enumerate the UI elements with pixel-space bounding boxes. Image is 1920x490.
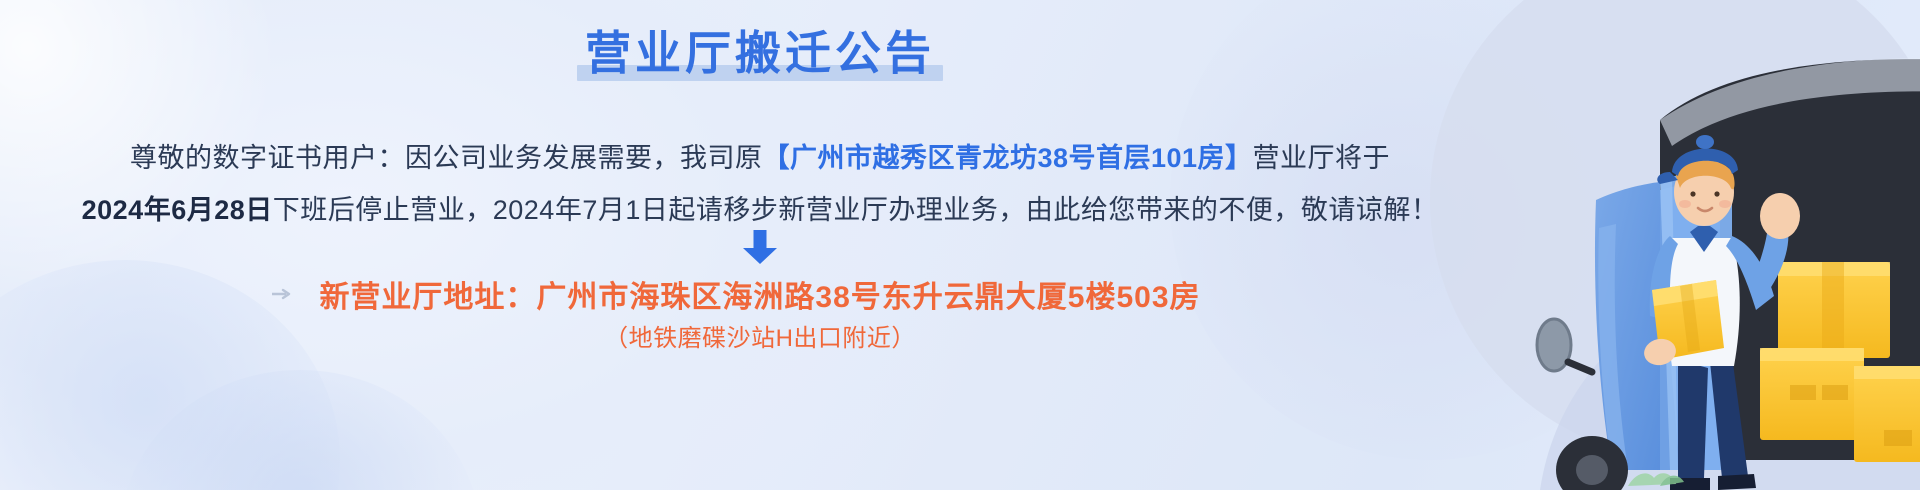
title-text: 营业厅搬迁公告	[585, 27, 935, 79]
new-address-line: 新营业厅地址：广州市海珠区海洲路38号东升云鼎大厦5楼503房	[0, 272, 1520, 316]
old-address-highlight: 【广州市越秀区青龙坊38号首层101房】	[762, 143, 1252, 173]
hand-waving	[1760, 193, 1800, 239]
arrow-down-icon	[740, 228, 780, 266]
closing-date: 2024年6月28日	[82, 195, 273, 225]
paragraph-line-1: 尊敬的数字证书用户：因公司业务发展需要，我司原【广州市越秀区青龙坊38号首层10…	[0, 132, 1520, 184]
line1-prefix: 尊敬的数字证书用户：因公司业务发展需要，我司原	[130, 143, 763, 173]
line2-rest: 下班后停止营业，2024年7月1日起请移步新营业厅办理业务，由此给您带来的不便，…	[273, 195, 1439, 225]
banner-content: 营业厅搬迁公告 尊敬的数字证书用户：因公司业务发展需要，我司原【广州市越秀区青龙…	[0, 0, 1920, 490]
announcement-paragraph: 尊敬的数字证书用户：因公司业务发展需要，我司原【广州市越秀区青龙坊38号首层10…	[0, 132, 1520, 236]
new-address-subtitle: （地铁磨碟沙站H出口附近）	[0, 318, 1520, 353]
relocation-announcement-banner: 营业厅搬迁公告 尊敬的数字证书用户：因公司业务发展需要，我司原【广州市越秀区青龙…	[0, 0, 1920, 490]
page-title: 营业厅搬迁公告	[577, 28, 943, 79]
moving-truck-delivery-man-illustration	[1360, 0, 1920, 490]
title-container: 营业厅搬迁公告	[0, 28, 1520, 79]
arrow-down-container	[0, 228, 1520, 271]
